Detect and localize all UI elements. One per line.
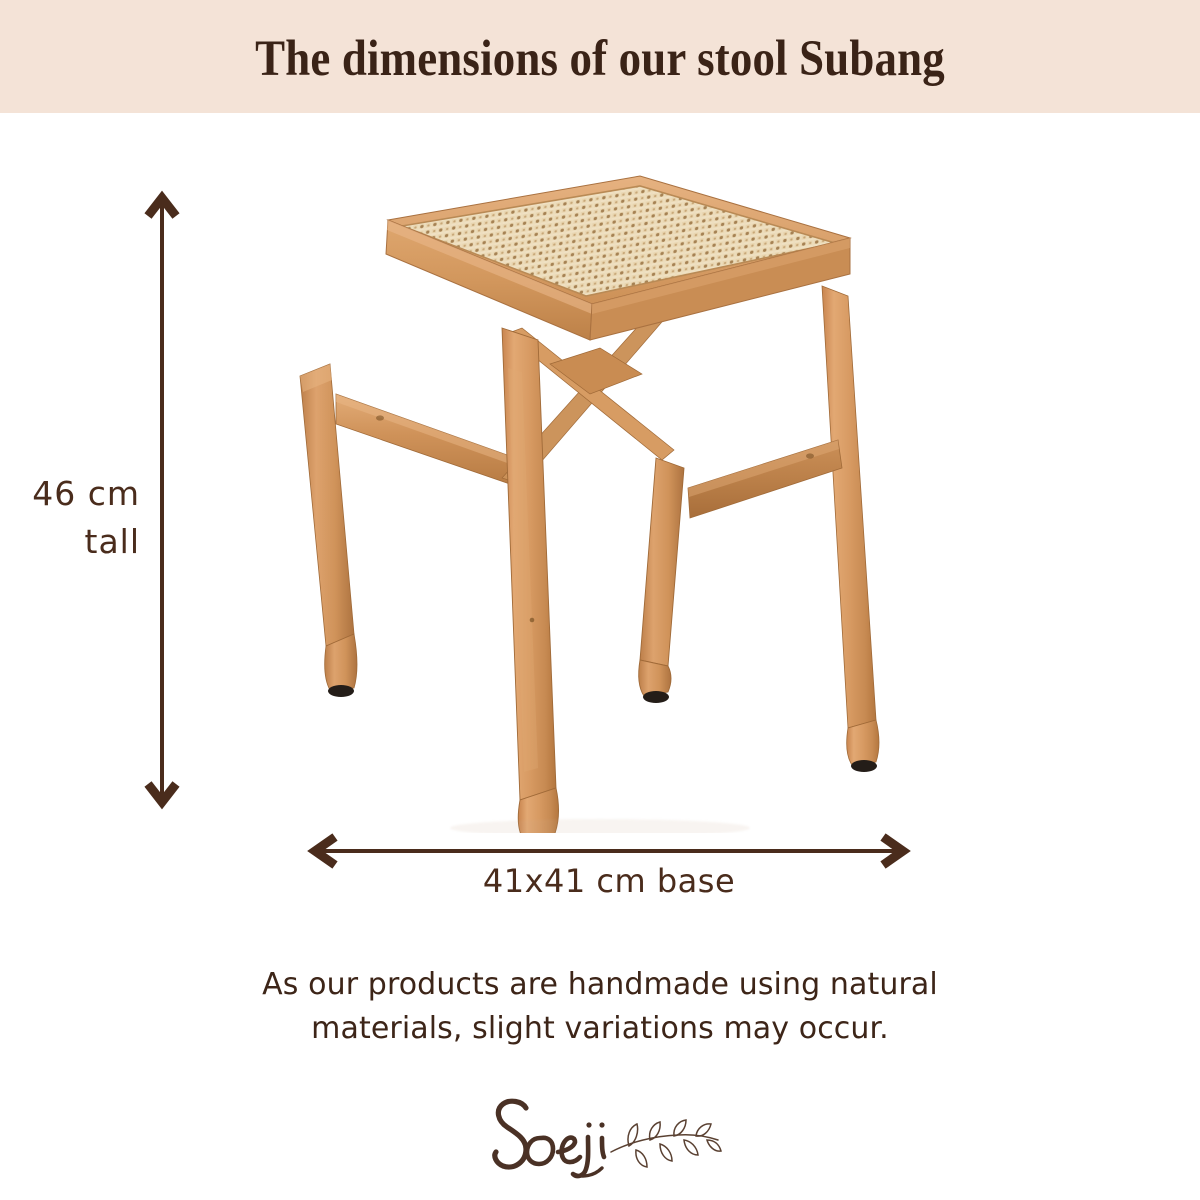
soeji-logo-mark (478, 1094, 728, 1182)
height-dimension-arrow (140, 186, 184, 814)
stool-illustration (270, 168, 930, 833)
height-label-line-2: tall (0, 518, 140, 566)
stool-product-image (270, 168, 930, 833)
disclaimer-line-2: materials, slight variations may occur. (150, 1007, 1050, 1051)
base-dimension-label: 41x41 cm base (313, 862, 905, 900)
page-title: The dimensions of our stool Subang (72, 0, 1128, 113)
brand-logo (478, 1094, 728, 1182)
disclaimer-text: As our products are handmade using natur… (150, 963, 1050, 1051)
leg-foot-pad (643, 691, 669, 703)
stool-leg-front-right (639, 458, 684, 703)
stool-leg-front-left (502, 328, 559, 833)
stool-leg-back-right (822, 286, 879, 772)
disclaimer-line-1: As our products are handmade using natur… (150, 963, 1050, 1007)
height-label-line-1: 46 cm (0, 470, 140, 518)
leg-foot-pad (851, 760, 877, 772)
leg-foot-pad (328, 685, 354, 697)
stretcher-left-side (336, 394, 510, 484)
leaf-branch-icon (611, 1120, 721, 1167)
height-dimension-label: 46 cm tall (0, 470, 140, 566)
stretcher-right-side (688, 440, 842, 518)
